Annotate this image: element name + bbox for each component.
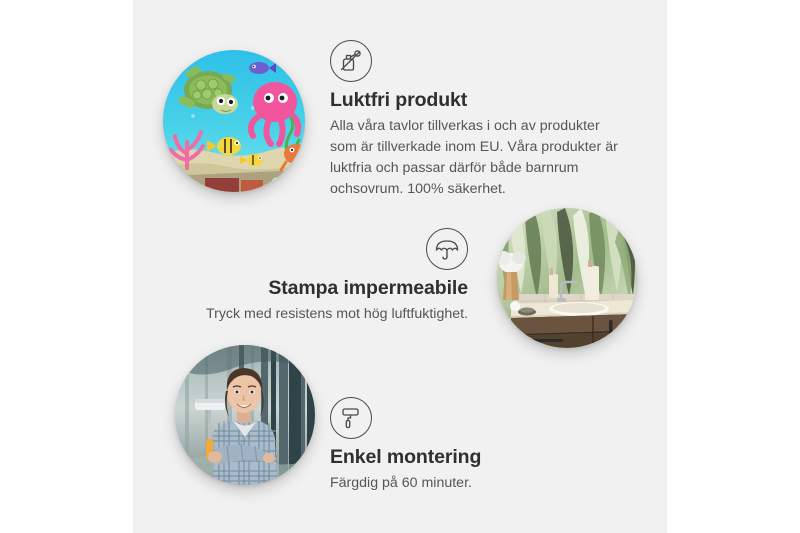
feature-odour-free: Luktfri produkt Alla våra tavlor tillver… xyxy=(330,40,626,200)
underwater-illustration xyxy=(163,50,305,192)
photo-forest-mural-woman xyxy=(175,345,315,485)
icon-wrap-odour xyxy=(330,40,626,82)
photo-bathroom-botanical xyxy=(497,208,637,348)
feature-description: Tryck med resistens mot hög luftfuktighe… xyxy=(190,304,468,325)
feature-easy-mounting: Enkel montering Färgdig på 60 minuter. xyxy=(330,397,590,494)
umbrella-icon xyxy=(426,228,468,270)
photo-underwater-scene xyxy=(163,50,305,192)
icon-wrap-waterproof xyxy=(190,228,468,270)
no-fragrance-icon xyxy=(330,40,372,82)
feature-title: Enkel montering xyxy=(330,446,590,469)
forest-woman-illustration xyxy=(175,345,315,485)
promo-infographic: Luktfri produkt Alla våra tavlor tillver… xyxy=(0,0,800,533)
feature-description: Färgdig på 60 minuter. xyxy=(330,473,590,494)
feature-title: Luktfri produkt xyxy=(330,89,626,112)
paint-roller-icon xyxy=(330,397,372,439)
feature-description: Alla våra tavlor tillverkas i och av pro… xyxy=(330,116,626,200)
icon-wrap-mounting xyxy=(330,397,590,439)
bathroom-illustration xyxy=(497,208,637,348)
feature-waterproof: Stampa impermeabile Tryck med resistens … xyxy=(190,228,468,325)
feature-title: Stampa impermeabile xyxy=(190,277,468,300)
